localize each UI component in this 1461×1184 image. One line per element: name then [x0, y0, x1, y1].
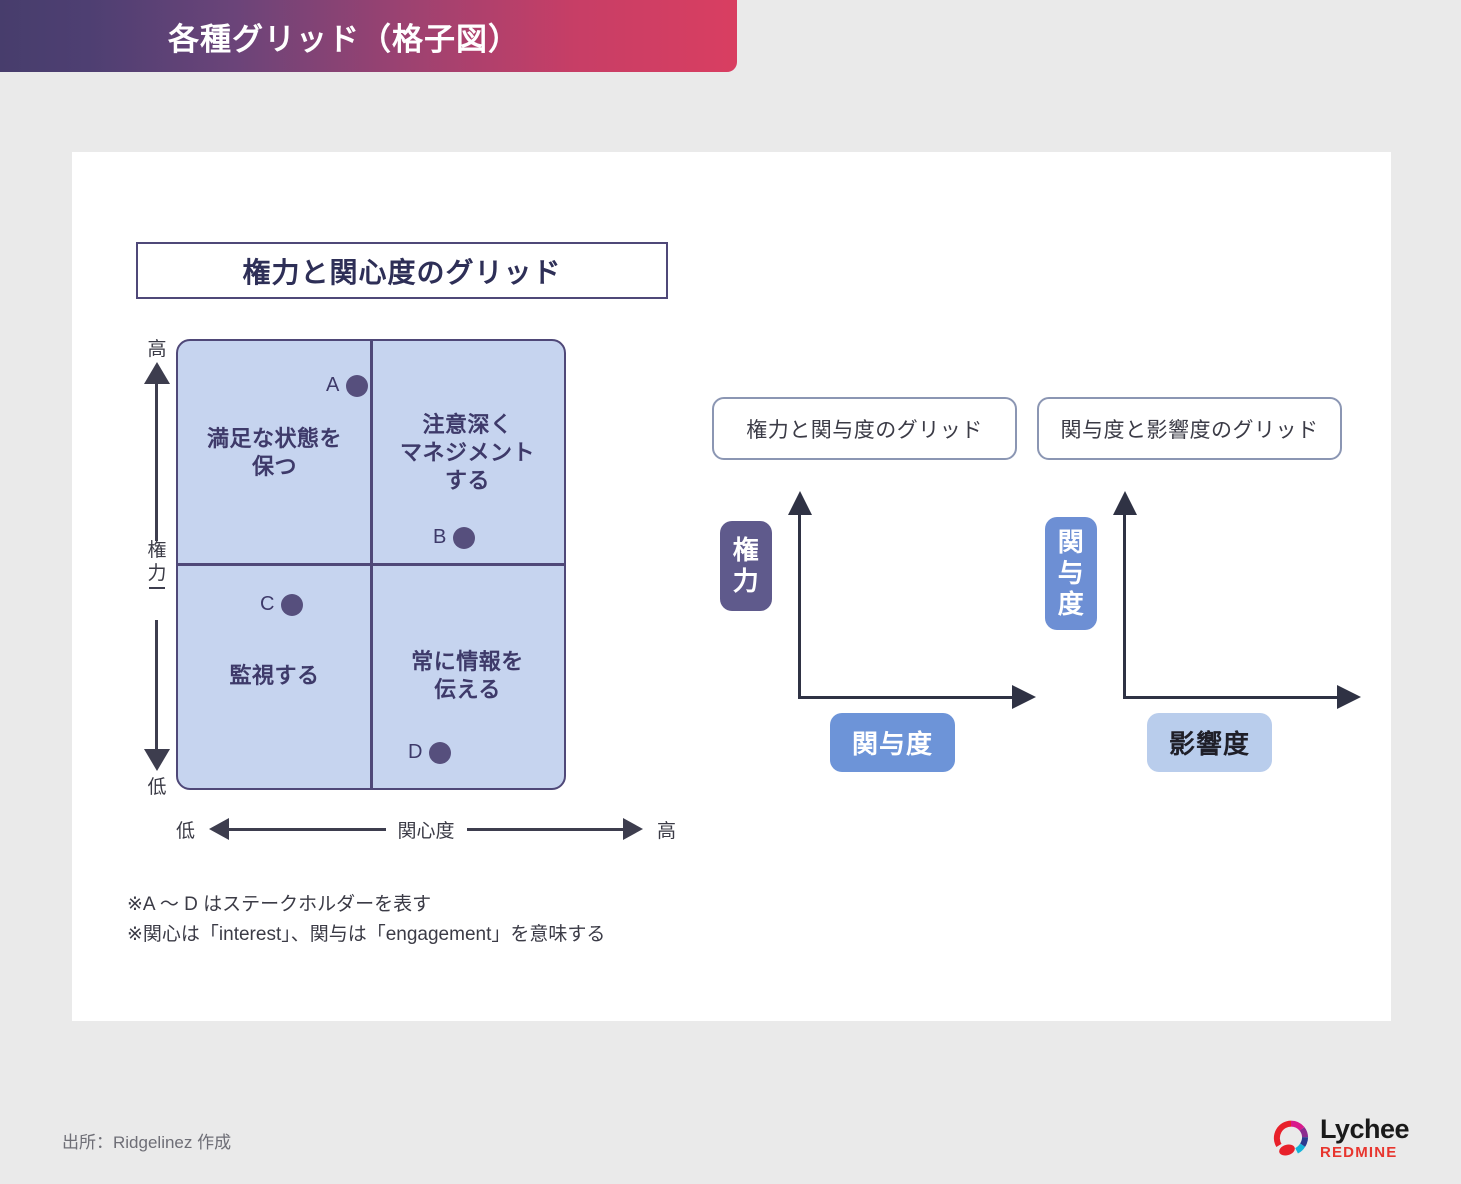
- mini-2-y-badge[interactable]: 関 与 度: [1045, 517, 1097, 630]
- mini-1-y-badge[interactable]: 権 力: [720, 521, 772, 611]
- mini-panel-2-heading-box[interactable]: 関与度と影響度のグリッド: [1037, 397, 1342, 460]
- quadrant-tr-line3: する: [400, 467, 535, 495]
- quadrant-top-left-label: 満足な状態を 保つ: [207, 425, 342, 481]
- x-axis-label: 関心度: [386, 816, 467, 843]
- mini-panel-engagement-influence: 関与度と影響度のグリッド 関 与 度 影響度: [1037, 397, 1342, 817]
- source-note: 出所：Ridgelinez 作成: [62, 1128, 231, 1153]
- stakeholder-point-a[interactable]: A: [326, 374, 368, 397]
- arrow-up-icon: [144, 362, 170, 384]
- point-d-label: D: [408, 741, 422, 764]
- footnote-1: ※A 〜 D はステークホルダーを表す: [127, 890, 605, 920]
- footnote-2: ※関心は「interest」、関与は「engagement」を意味する: [127, 920, 605, 950]
- mini-1-y-badge-char-2: 力: [720, 566, 772, 597]
- stakeholder-point-d[interactable]: D: [408, 741, 451, 764]
- stakeholder-point-b[interactable]: B: [433, 526, 475, 549]
- mini-panel-1-heading-box[interactable]: 権力と関与度のグリッド: [712, 397, 1017, 460]
- mini-2-x-axis-line: [1123, 696, 1347, 699]
- page-title: 各種グリッド（格子図）: [168, 14, 520, 59]
- mini-2-y-badge-char-2: 与: [1045, 558, 1097, 589]
- arrow-left-icon: [209, 818, 229, 840]
- logo-lychee-text: Lychee: [1320, 1116, 1409, 1143]
- y-axis-tick: [149, 587, 165, 589]
- quadrant-tl-line1: 満足な状態を: [207, 425, 342, 453]
- quadrant-bl-line1: 監視する: [229, 662, 319, 690]
- logo-redmine-text: REDMINE: [1320, 1145, 1409, 1160]
- x-axis-high-label: 高: [657, 816, 676, 843]
- main-grid-title-box: 権力と関心度のグリッド: [136, 242, 668, 299]
- quadrant-bottom-left-label: 監視する: [229, 662, 319, 690]
- quadrant-bottom-right[interactable]: 常に情報を 伝える: [371, 565, 564, 789]
- footnotes: ※A 〜 D はステークホルダーを表す ※関心は「interest」、関与は「e…: [127, 890, 605, 950]
- mini-2-y-badge-char-3: 度: [1045, 589, 1097, 620]
- x-axis-line-right: [467, 828, 623, 831]
- mini-1-arrow-right-icon: [1012, 685, 1036, 709]
- content-card: 権力と関心度のグリッド 高 権 力 低 満足な状態を 保つ 注意深く マネジメン…: [72, 152, 1391, 1021]
- quadrant-tr-line2: マネジメント: [400, 439, 535, 467]
- quadrant-br-line2: 伝える: [411, 676, 524, 704]
- mini-1-arrow-up-icon: [788, 491, 812, 515]
- point-a-dot-icon: [346, 375, 368, 397]
- header-banner: 各種グリッド（格子図）: [0, 0, 737, 72]
- x-axis-low-label: 低: [176, 816, 195, 843]
- lychee-logo-icon: [1271, 1118, 1311, 1158]
- horizontal-axis: 低 関心度 高: [176, 812, 676, 846]
- mini-panel-1-axes: 権 力 関与度: [712, 487, 1017, 817]
- mini-2-arrow-up-icon: [1113, 491, 1137, 515]
- point-b-dot-icon: [453, 527, 475, 549]
- arrow-down-icon: [144, 749, 170, 771]
- mini-2-y-axis-line: [1123, 513, 1126, 699]
- y-axis-line-upper: [155, 384, 158, 541]
- arrow-right-icon: [623, 818, 643, 840]
- point-b-label: B: [433, 526, 446, 549]
- x-axis-line-left: [229, 828, 385, 831]
- mini-2-x-badge[interactable]: 影響度: [1147, 713, 1272, 772]
- mini-1-y-axis-line: [798, 513, 801, 699]
- mini-2-arrow-right-icon: [1337, 685, 1361, 709]
- point-a-label: A: [326, 374, 339, 397]
- main-grid-title: 権力と関心度のグリッド: [242, 251, 561, 291]
- mini-panel-power-engagement: 権力と関与度のグリッド 権 力 関与度: [712, 397, 1017, 817]
- quadrant-bottom-right-label: 常に情報を 伝える: [411, 648, 524, 704]
- quadrant-top-right-label: 注意深く マネジメント する: [400, 411, 535, 495]
- power-interest-grid: 満足な状態を 保つ 注意深く マネジメント する 監視する 常に情報を 伝える …: [176, 339, 566, 790]
- mini-1-x-axis-line: [798, 696, 1022, 699]
- point-d-dot-icon: [429, 742, 451, 764]
- lychee-redmine-logo: Lychee REDMINE: [1271, 1116, 1409, 1160]
- quadrant-tr-line1: 注意深く: [400, 411, 535, 439]
- mini-panel-2-heading: 関与度と影響度のグリッド: [1061, 414, 1319, 444]
- quadrant-br-line1: 常に情報を: [411, 648, 524, 676]
- logo-wordmark: Lychee REDMINE: [1320, 1116, 1409, 1160]
- mini-1-y-badge-char-1: 権: [720, 535, 772, 566]
- quadrant-tl-line2: 保つ: [207, 453, 342, 481]
- stakeholder-point-c[interactable]: C: [260, 593, 303, 616]
- mini-panel-1-heading: 権力と関与度のグリッド: [746, 414, 983, 444]
- y-axis-line-lower: [155, 620, 158, 750]
- mini-grid-panels: 権力と関与度のグリッド 権 力 関与度 関与度と影響度のグリッド: [712, 397, 1362, 817]
- point-c-label: C: [260, 593, 274, 616]
- point-c-dot-icon: [281, 594, 303, 616]
- mini-panel-2-axes: 関 与 度 影響度: [1037, 487, 1342, 817]
- mini-1-x-badge[interactable]: 関与度: [830, 713, 955, 772]
- mini-2-y-badge-char-1: 関: [1045, 527, 1097, 558]
